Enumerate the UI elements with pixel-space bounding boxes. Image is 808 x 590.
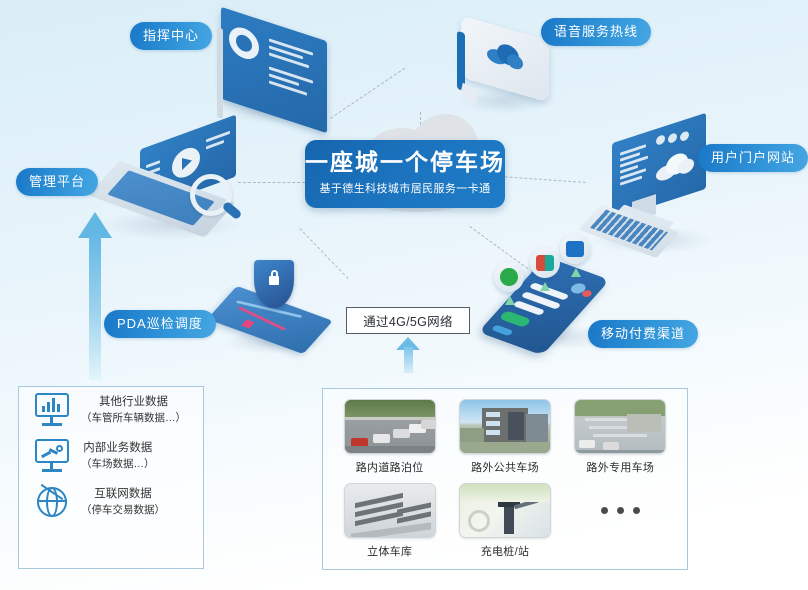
pda-shield-tablet xyxy=(218,258,328,354)
voice-hotline-bubble xyxy=(455,24,555,116)
scene-caption: 路外公共车场 xyxy=(450,459,559,475)
cloud-icon xyxy=(656,147,694,183)
data-sources-panel: 其他行业数据 （车管所车辆数据…） 内部业务数据 （车场数据…） xyxy=(18,386,204,569)
data-source-detail: （停车交易数据） xyxy=(81,503,165,519)
scene-caption: 立体车库 xyxy=(335,543,444,559)
scene-item[interactable]: 立体车库 xyxy=(335,483,444,559)
unionpay-icon xyxy=(560,234,590,264)
scene-item[interactable]: 路外专用车场 xyxy=(566,399,675,475)
cloud-icon xyxy=(487,37,523,71)
data-source-detail: （车场数据…） xyxy=(81,457,155,473)
label-user-portal[interactable]: 用户门户网站 xyxy=(698,144,808,172)
connector-desktop xyxy=(500,176,586,183)
alipay-icon xyxy=(530,248,560,278)
network-up-arrow xyxy=(396,337,420,373)
line-chart-monitor-icon xyxy=(33,439,71,473)
gear-icon xyxy=(229,23,259,63)
page-subtitle: 基于德生科技城市居民服务一卡通 xyxy=(305,180,505,196)
multilevel-garage-image xyxy=(344,483,436,538)
network-label-box: 通过4G/5G网络 xyxy=(346,307,470,334)
play-icon xyxy=(172,144,200,182)
label-command-center[interactable]: 指挥中心 xyxy=(130,22,212,50)
scene-item-more xyxy=(566,483,675,559)
scene-item[interactable]: 充电桩/站 xyxy=(450,483,559,559)
lock-shield-icon xyxy=(254,260,294,308)
roadside-parking-image xyxy=(344,399,436,454)
ellipsis-dots-icon xyxy=(566,483,675,538)
data-source-item[interactable]: 内部业务数据 （车场数据…） xyxy=(19,433,203,479)
infographic-canvas: 一座城一个停车场 基于德生科技城市居民服务一卡通 xyxy=(0,0,808,590)
data-source-item[interactable]: 互联网数据 （停车交易数据） xyxy=(19,479,203,525)
data-source-title: 互联网数据 xyxy=(81,486,165,503)
data-source-detail: （车管所车辆数据…） xyxy=(81,411,186,427)
scene-caption: 路内道路泊位 xyxy=(335,459,444,475)
scene-item[interactable]: 路外公共车场 xyxy=(450,399,559,475)
scene-caption: 路外专用车场 xyxy=(566,459,675,475)
parking-scenes-panel: 路内道路泊位 路外公共车场 xyxy=(322,388,688,570)
wechat-pay-icon xyxy=(494,262,524,292)
data-flow-up-arrow xyxy=(78,212,112,380)
data-source-title: 内部业务数据 xyxy=(81,440,155,457)
page-title: 一座城一个停车场 xyxy=(305,149,505,175)
label-management-platform[interactable]: 管理平台 xyxy=(16,168,98,196)
management-laptop xyxy=(96,132,246,242)
data-source-item[interactable]: 其他行业数据 （车管所车辆数据…） xyxy=(19,387,203,433)
public-parking-building-image xyxy=(459,399,551,454)
user-portal-desktop xyxy=(586,128,716,256)
globe-network-icon xyxy=(33,485,71,519)
bar-chart-monitor-icon xyxy=(33,393,71,427)
command-center-monitor xyxy=(215,22,335,122)
app-arrow-1 xyxy=(505,296,515,305)
center-title-banner: 一座城一个停车场 基于德生科技城市居民服务一卡通 xyxy=(305,140,505,208)
dedicated-parking-lot-image xyxy=(574,399,666,454)
charging-station-image xyxy=(459,483,551,538)
label-voice-hotline[interactable]: 语音服务热线 xyxy=(541,18,651,46)
app-arrow-3 xyxy=(571,268,581,277)
data-source-title: 其他行业数据 xyxy=(81,394,186,411)
scene-caption: 充电桩/站 xyxy=(450,543,559,559)
app-arrow-2 xyxy=(540,282,550,291)
scene-item[interactable]: 路内道路泊位 xyxy=(335,399,444,475)
connector-laptop xyxy=(238,182,310,183)
label-mobile-payment[interactable]: 移动付费渠道 xyxy=(588,320,698,348)
label-pda-dispatch[interactable]: PDA巡检调度 xyxy=(104,310,216,338)
